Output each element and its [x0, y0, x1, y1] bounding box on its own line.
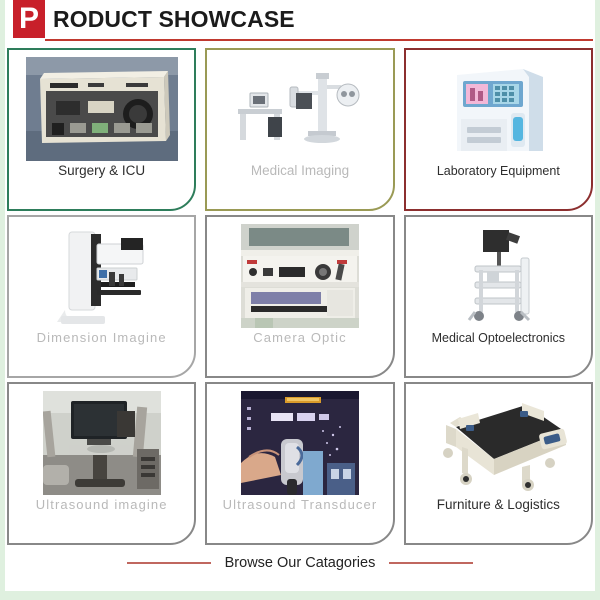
- product-card-laboratory-equipment[interactable]: Laboratory Equipment: [404, 48, 593, 211]
- product-card-label: Ultrasound imagine: [36, 497, 168, 513]
- page-title: RODUCT SHOWCASE: [53, 0, 295, 38]
- product-card-label: Camera Optic: [253, 330, 346, 346]
- footer-rule-left: [127, 562, 211, 564]
- footer-browse-categories[interactable]: Browse Our Catagories: [5, 548, 595, 578]
- hematology-analyzer-image: [439, 57, 557, 161]
- product-card-furniture-logistics[interactable]: Furniture & Logistics: [404, 382, 593, 545]
- product-card-medical-optoelectronics[interactable]: Medical Optoelectronics: [404, 215, 593, 378]
- endoscopy-tower-rack-image: [241, 224, 359, 328]
- product-card-label: Surgery & ICU: [58, 163, 145, 179]
- ultrasound-probe-scan-image: [241, 391, 359, 495]
- product-card-grid: Surgery & ICU: [5, 44, 595, 545]
- header-divider: [45, 39, 593, 41]
- product-card-medical-imaging[interactable]: Medical Imaging: [205, 48, 394, 211]
- product-card-ultrasound-imagine[interactable]: Ultrasound imagine: [7, 382, 196, 545]
- product-card-label: Medical Optoelectronics: [432, 330, 565, 346]
- endoscopy-light-source-image: [26, 57, 178, 161]
- footer-label: Browse Our Catagories: [225, 555, 376, 571]
- product-card-label: Ultrasound Transducer: [223, 497, 378, 513]
- page-header: P RODUCT SHOWCASE: [5, 0, 595, 44]
- product-card-label: Furniture & Logistics: [437, 497, 560, 513]
- logo-letter-badge: P: [13, 0, 45, 38]
- hospital-bed-image: [422, 391, 574, 495]
- product-card-surgery-icu[interactable]: Surgery & ICU: [7, 48, 196, 211]
- mammography-unit-image: [43, 224, 161, 328]
- product-card-label: Laboratory Equipment: [437, 163, 560, 179]
- product-card-dimension-imagine[interactable]: Dimension Imagine: [7, 215, 196, 378]
- product-card-camera-optic[interactable]: Camera Optic: [205, 215, 394, 378]
- product-card-ultrasound-transducer[interactable]: Ultrasound Transducer: [205, 382, 394, 545]
- optoelectronic-cart-image: [439, 224, 557, 328]
- product-card-label: Medical Imaging: [251, 163, 349, 179]
- product-showcase-page: P RODUCT SHOWCASE: [0, 0, 600, 600]
- xray-radiography-system-image: [224, 57, 376, 161]
- product-card-label: Dimension Imagine: [37, 330, 167, 346]
- ultrasound-machine-image: [43, 391, 161, 495]
- footer-rule-right: [389, 562, 473, 564]
